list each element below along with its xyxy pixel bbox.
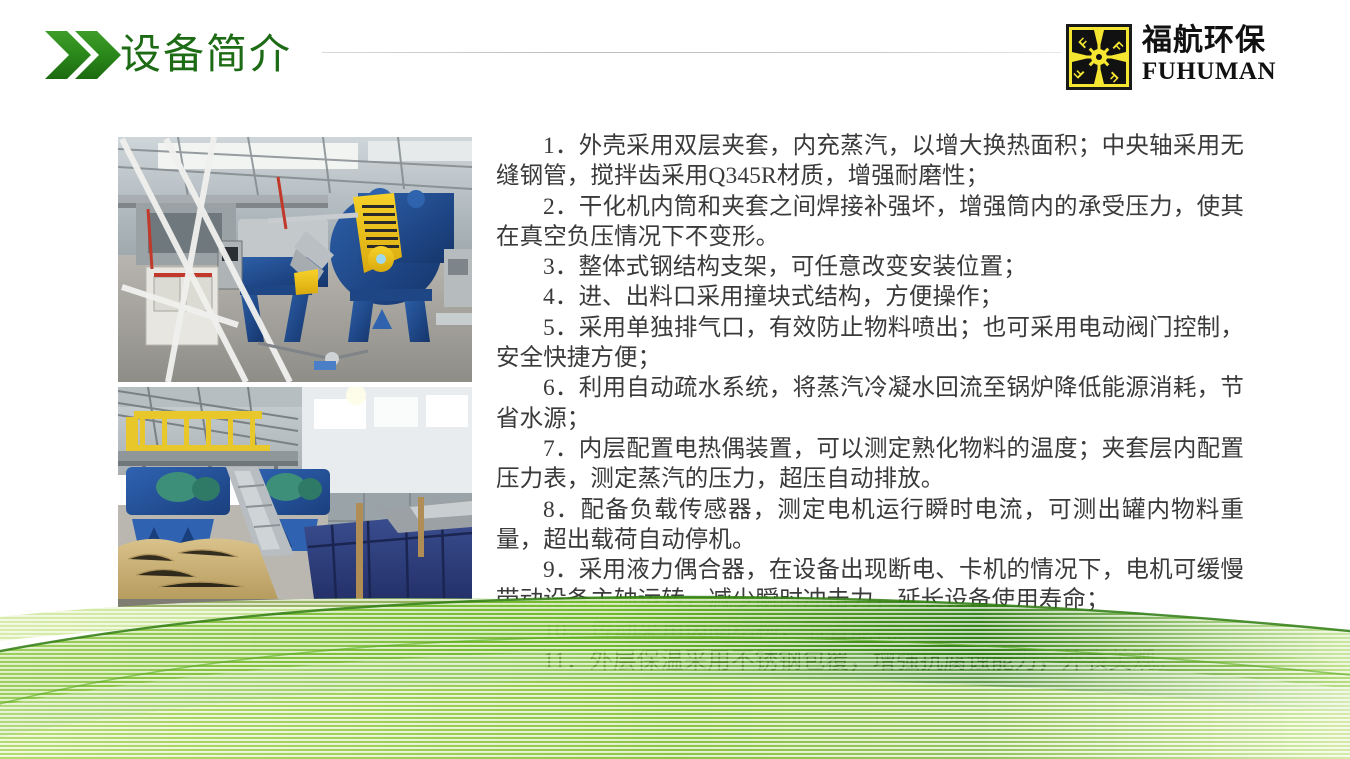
double-chevron-right-icon — [45, 29, 121, 81]
company-name-cn: 福航环保 — [1142, 24, 1282, 58]
company-logo: F F F F — [1066, 24, 1281, 90]
header-divider-rule — [322, 52, 1062, 53]
list-item: 7．内层配置电热偶装置，可以测定熟化物料的温度；夹套层内配置压力表，测定蒸汽的压… — [496, 434, 1244, 495]
list-item: 9．采用液力偶合器，在设备出现断电、卡机的情况下，电机可缓慢带动设备主轴运转，减… — [496, 555, 1244, 616]
photo-column — [118, 137, 472, 607]
list-item: 10．传动采用齿圈结构，节省能耗。 — [496, 616, 1244, 646]
company-logo-text: 福航环保 FUHUMAN — [1142, 24, 1282, 90]
list-item: 11．外层保温采用不锈钢包覆，增强抗腐蚀能力，外表美观。 — [496, 646, 1244, 676]
photo-sludge-dryer-factory-interior — [118, 137, 472, 382]
fuhuman-pinwheel-logo-icon: F F F F — [1066, 24, 1132, 90]
list-item: 6．利用自动疏水系统，将蒸汽冷凝水回流至锅炉降低能源消耗，节省水源； — [496, 373, 1244, 434]
page-title: 设备简介 — [120, 24, 292, 84]
photo-dryer-conveyor-material-bin — [118, 387, 472, 607]
company-name-en: FUHUMAN — [1142, 58, 1282, 86]
list-item: 4．进、出料口采用撞块式结构，方便操作； — [496, 282, 1244, 312]
list-item: 3．整体式钢结构支架，可任意改变安装位置； — [496, 252, 1244, 282]
list-item: 5．采用单独排气口，有效防止物料喷出；也可采用电动阀门控制，安全快捷方便； — [496, 313, 1244, 374]
list-item: 2．干化机内筒和夹套之间焊接补强坏，增强筒内的承受压力，使其在真空负压情况下不变… — [496, 192, 1244, 253]
list-item: 1．外壳采用双层夹套，内充蒸汽，以增大换热面积；中央轴采用无缝钢管，搅拌齿采用Q… — [496, 131, 1244, 192]
slide-header: 设备简介 F F F F — [0, 0, 1350, 110]
list-item: 8．配备负载传感器，测定电机运行瞬时电流，可测出罐内物料重量，超出载荷自动停机。 — [496, 495, 1244, 556]
equipment-feature-list: 1．外壳采用双层夹套，内充蒸汽，以增大换热面积；中央轴采用无缝钢管，搅拌齿采用Q… — [496, 131, 1244, 676]
